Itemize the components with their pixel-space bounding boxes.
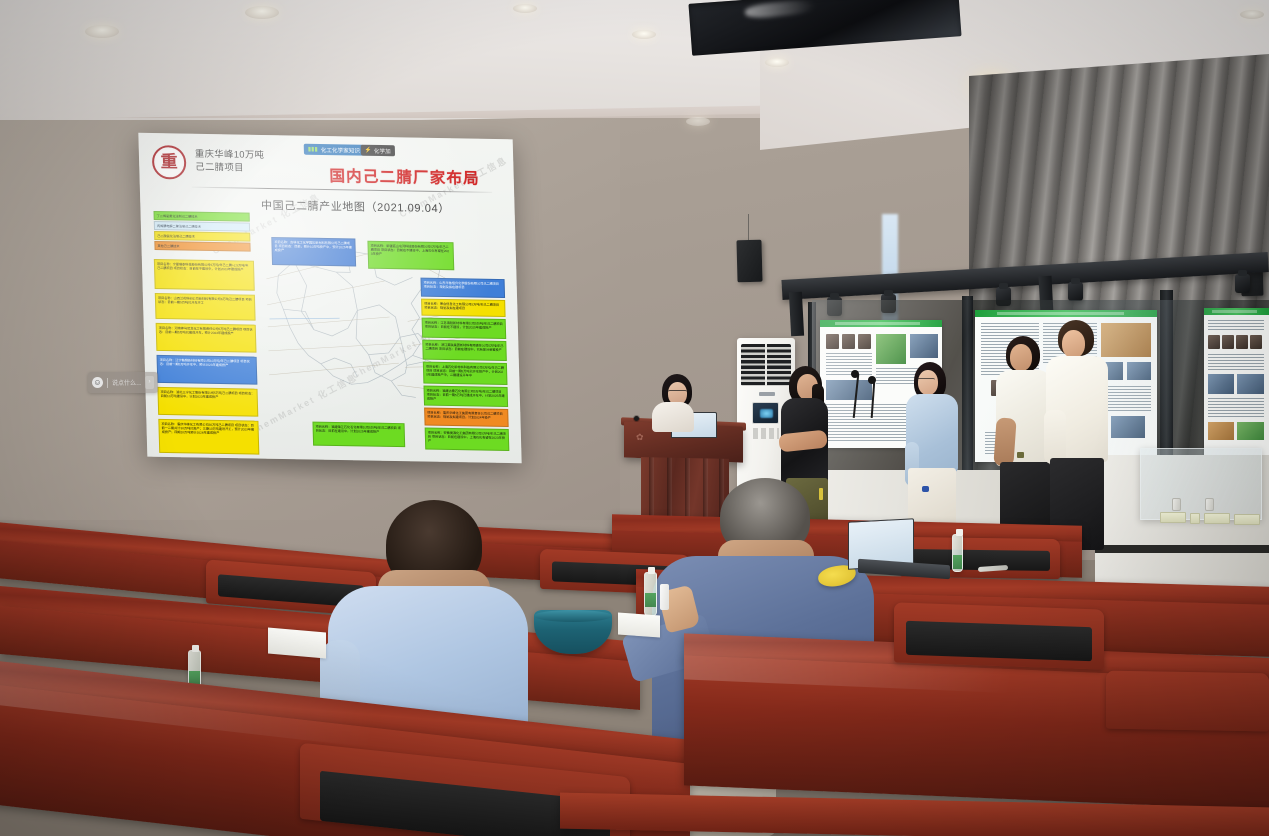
slide-project-box: 项目名称：聚合信息化工有限公司5万吨/年己二腈项目 项目状态：规划及拟在建项目 [421,299,506,317]
poster-figure [910,334,938,358]
projection-screen[interactable]: 重 重庆华峰10万吨 己二腈项目 ▮▮▮ 化工化学家知识 ⚡ 化学加 国内己二腈… [138,133,521,463]
eyeglasses-icon [917,378,935,383]
comment-input[interactable]: 说点什么… [112,378,141,387]
portrait-photo [842,334,855,349]
slide-subtitle: 中国己二腈产业地图（2021.09.04） [245,197,466,217]
slide-project-box: 项目名称：宁夏瑞泰科技股份有限公司5万吨/年己二腈>2.5万吨/年己二腈项目 项… [154,259,255,291]
slide-project-box: 项目名称：山西兰花科创公司新材料有限公司6万吨己二腈项目 项目状态：目前一期5万… [155,293,256,321]
portrait-photo [1208,335,1220,349]
slide-project-box: 项目名称：湖北三宁化工股份有限公司5万吨己二腈项目 项目状态：目前10万吨建设中… [157,387,258,417]
downlight-icon [632,30,656,39]
chair[interactable] [1106,671,1269,732]
speaker-cable [748,214,749,242]
spotlight-icon [1068,282,1083,301]
ac-button-row[interactable] [753,428,779,439]
lightning-icon: ⚡ [365,147,372,153]
small-bottle [660,584,669,610]
poster-header-band [820,320,942,327]
podium-emblem-icon: ✿ [636,432,645,445]
poster-header-band [1204,308,1269,315]
spotlight-icon [1235,274,1250,293]
wall-speaker [736,240,762,283]
pocket-detail [819,488,823,500]
downlight-icon [85,25,119,38]
slide-project-box: 项目名称：河南神马尼龙化工有限责任公司5万吨己二腈项目 项目状态：目前一期5万吨… [156,323,257,353]
slide-surface: 重 重庆华峰10万吨 己二腈项目 ▮▮▮ 化工化学家知识 ⚡ 化学加 国内己二腈… [138,133,521,463]
portrait-photo [826,334,839,349]
divider [107,378,108,388]
poster-figure [1208,374,1234,394]
slide-legend-item: 其他己二腈技术 [154,241,250,252]
bowl-rim [534,610,612,622]
poster-figure [1111,416,1145,438]
poster-figure [1208,422,1234,440]
water-bottle [644,572,657,616]
ac-display-panel[interactable] [752,402,779,424]
slide-legend-item: 丙烯腈电解二聚法制己二腈技术 [154,221,250,232]
poster-figure [1237,374,1264,394]
slide-project-box: 项目名称：新疆蓝山屯河科技股份有限公司5万吨/年己二腈项目 项目状态：目前在不建… [367,241,454,270]
head [1010,344,1032,371]
exhibit-label [1204,513,1230,524]
research-poster [1204,308,1269,458]
exhibit-label [1234,514,1260,525]
conference-room-photo: 重 重庆华峰10万吨 己二腈项目 ▮▮▮ 化工化学家知识 ⚡ 化学加 国内己二腈… [0,0,1269,836]
torso [652,402,694,432]
downlight-icon [765,58,789,67]
poster-figure [876,334,906,364]
wristwatch-icon [922,486,929,492]
microphone-icon [868,376,876,384]
poster-figure [1101,323,1151,357]
slide-project-box: 项目名称：吉林化工化学园区新材料有限公司己二腈项目 项目状态：目前，预计10万吨… [271,237,356,266]
slide-org-subtitle: 重庆华峰10万吨 己二腈项目 [195,148,296,177]
water-bottle [952,534,963,572]
ac-brand-mark [759,392,775,396]
poster-text-block [1101,386,1151,412]
shirt-logo [1017,452,1024,458]
poster-text-block [1208,398,1264,418]
portrait-photo [1222,335,1234,349]
poster-text-block [1208,320,1264,332]
eyeglasses-icon [668,390,687,395]
comment-overlay-widget[interactable]: ☺ 说点什么… › [88,372,158,393]
slide-project-box: 项目名称：福建锦江石化石化有限公司5万吨/年己二腈项目 项目状态：目前在建设中，… [312,422,405,448]
slide-project-box: 项目名称：重庆华峰化工集团有限责任公司己二腈项目 项目状态：规划及拟建项目，计划… [424,408,509,427]
slide-legend-item: 丁二烯氢氰化法制己二腈技术 [154,211,250,222]
head [1062,330,1085,358]
slide-title: 国内己二腈厂家布局 [309,164,500,189]
cabinet-shadow-gap [1095,545,1269,553]
slide-project-box: 项目名称：福建古雷石化有限公司5万吨/年己二腈项目 项目状态：目前一期5万吨已建… [423,386,508,407]
downlight-icon [513,4,537,13]
arm [993,417,1016,466]
slide-project-box: 项目名称：重庆华峰化工有限公司30万吨己二腈项目 项目状态：目前一二期共计30万… [158,419,259,455]
smiley-icon[interactable]: ☺ [92,377,103,388]
glass-display-case [1140,448,1262,520]
slide-project-box: 项目名称：辽宁鞍钢新材料有限公司10万吨/年己二腈项目 项目状态：目前一期5万吨… [157,355,258,385]
poster-figure [1237,422,1264,440]
ac-vent-divider [765,344,767,386]
paper-sheet [268,627,326,658]
exhibit-label [1160,512,1186,523]
slide-badge-primary: ▮▮▮ 化工化学家知识 [304,144,364,156]
paper-sheet [618,613,660,638]
portrait-photo [1250,335,1262,349]
organization-logo-icon: 重 [152,145,187,180]
slide-project-box: 项目名称：山东华鲁恒升化学股份有限公司己二腈项目 项目状态：规划及拟在建项目 [420,278,505,298]
downlight-icon [245,6,279,19]
poster-text-block [1208,354,1264,370]
sample-jar [1172,498,1181,511]
exhibit-label [1190,513,1200,524]
signal-bars-icon: ▮▮▮ [308,146,318,153]
arm [1044,410,1066,464]
portrait-photo [1236,335,1248,349]
slide-project-box: 项目名称：安徽昊源化工集团有限公司5万吨/年己二腈项目 项目状态：目前在建设中，… [425,428,510,451]
chair-cushion [906,621,1092,661]
microphone-icon [851,370,859,378]
downlight-icon [686,117,710,126]
poster-figure [826,380,872,400]
downlight-icon [1240,10,1264,19]
slide-project-box: 项目名称：浙江英联集团新材料有限责任公司5万吨/年己二腈项目 项目状态：目前在建… [422,340,507,361]
poster-text-block [826,353,872,375]
poster-header-band [975,310,1157,317]
slide-project-box: 项目名称：上海石化新材料科技有限公司5万吨/年己二腈项目 项目状态：目前一期5万… [423,362,508,385]
poster-figure [1127,362,1151,380]
slide-badge-secondary: ⚡ 化学加 [361,145,395,157]
sample-jar [1205,498,1214,511]
truss-post [789,292,804,337]
podium-microphone-icon [634,416,639,421]
slide-legend-item: 己二酸氨化法制己二腈技术 [154,231,250,242]
slide-project-box: 项目名称：江苏海阳新材料有限公司5万吨/年己二腈项目 项目状态：目前在不建设，计… [422,318,507,339]
send-icon[interactable]: › [145,376,154,389]
portrait-photo [858,334,871,349]
